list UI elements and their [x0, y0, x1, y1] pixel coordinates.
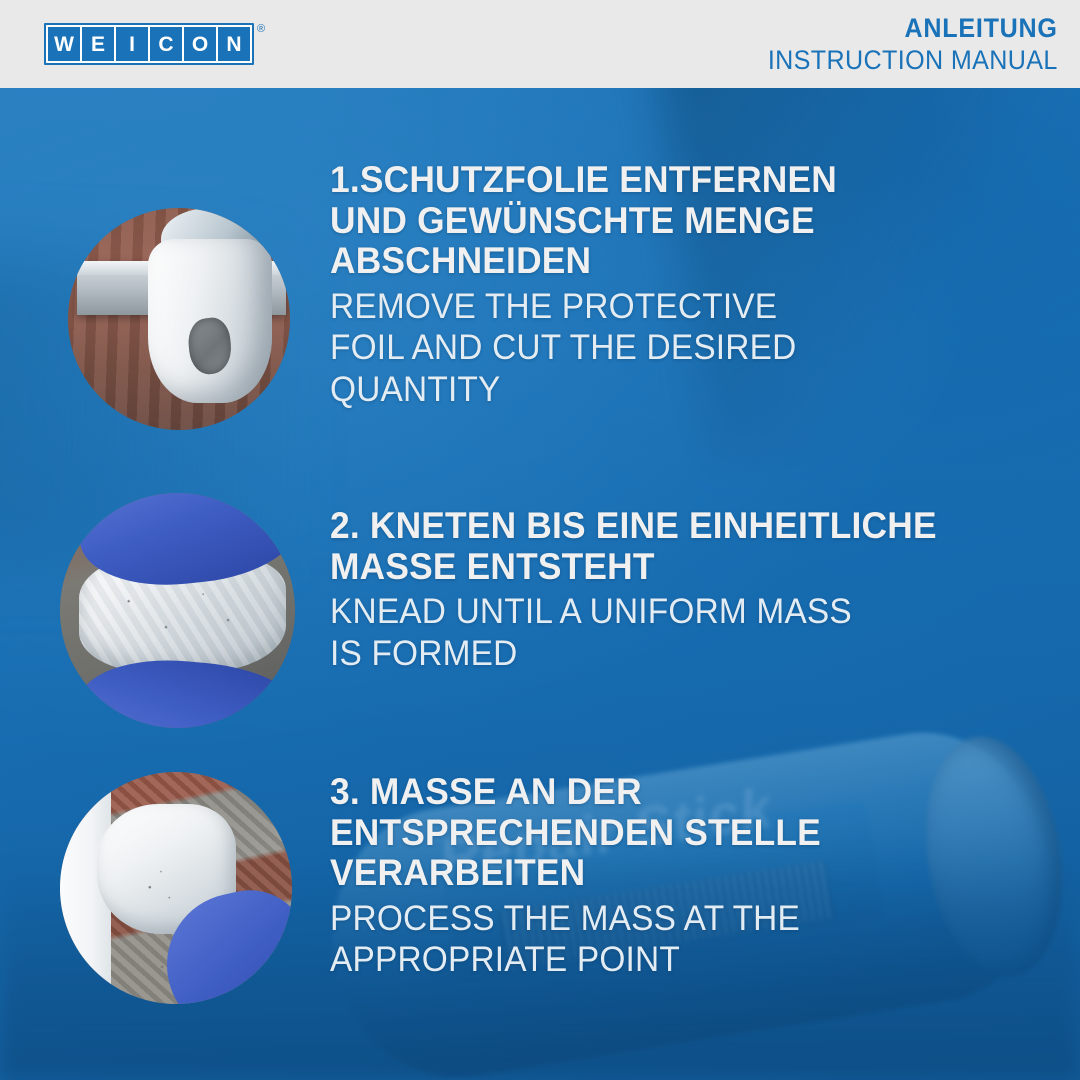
logo-frame: W E I C O N	[44, 23, 254, 65]
header-title-german: ANLEITUNG	[768, 15, 1058, 42]
registered-trademark-icon: ®	[257, 24, 265, 35]
step-2-text: 2. KNETEN BIS EINE EINHEITLICHE MASSE EN…	[330, 506, 1030, 674]
page-header: W E I C O N ® ANLEITUNG INSTRUCTION MANU…	[0, 0, 1080, 88]
photo-1-putty-stick	[148, 239, 272, 403]
photo-cut-putty-stick	[68, 208, 290, 430]
weicon-logo[interactable]: W E I C O N ®	[44, 23, 265, 65]
logo-letter-o: O	[184, 27, 216, 61]
step-1-photo	[68, 208, 290, 430]
instruction-body: Repair Stick 1.SCHUTZFOLIE ENTFERNEN UND…	[0, 88, 1080, 1080]
logo-letter-i: I	[116, 27, 148, 61]
logo-letter-e: E	[82, 27, 114, 61]
header-title-english: INSTRUCTION MANUAL	[768, 47, 1058, 74]
step-3-text: 3. MASSE AN DER ENTSPRECHENDEN STELLE VE…	[330, 772, 990, 981]
logo-letter-w: W	[48, 27, 80, 61]
photo-knead-putty	[60, 493, 295, 728]
step-2-title-english: KNEAD UNTIL A UNIFORM MASS IS FORMED	[330, 591, 999, 674]
steps-list: 1.SCHUTZFOLIE ENTFERNEN UND GEWÜNSCHTE M…	[0, 88, 1080, 1080]
header-title-block: ANLEITUNG INSTRUCTION MANUAL	[746, 15, 1058, 74]
photo-1-putty-core	[186, 316, 234, 376]
step-3-title-german: 3. MASSE AN DER ENTSPRECHENDEN STELLE VE…	[330, 772, 960, 894]
step-1-title-german: 1.SCHUTZFOLIE ENTFERNEN UND GEWÜNSCHTE M…	[330, 160, 941, 282]
step-2-title-german: 2. KNETEN BIS EINE EINHEITLICHE MASSE EN…	[330, 506, 999, 587]
logo-letter-c: C	[150, 27, 182, 61]
step-3-title-english: PROCESS THE MASS AT THE APPROPRIATE POIN…	[330, 898, 960, 981]
photo-apply-putty	[60, 772, 292, 1004]
step-3-photo	[60, 772, 292, 1004]
logo-letter-n: N	[218, 27, 250, 61]
step-1-text: 1.SCHUTZFOLIE ENTFERNEN UND GEWÜNSCHTE M…	[330, 160, 970, 410]
step-2-photo	[60, 493, 295, 728]
step-1-title-english: REMOVE THE PROTECTIVE FOIL AND CUT THE D…	[330, 286, 941, 410]
